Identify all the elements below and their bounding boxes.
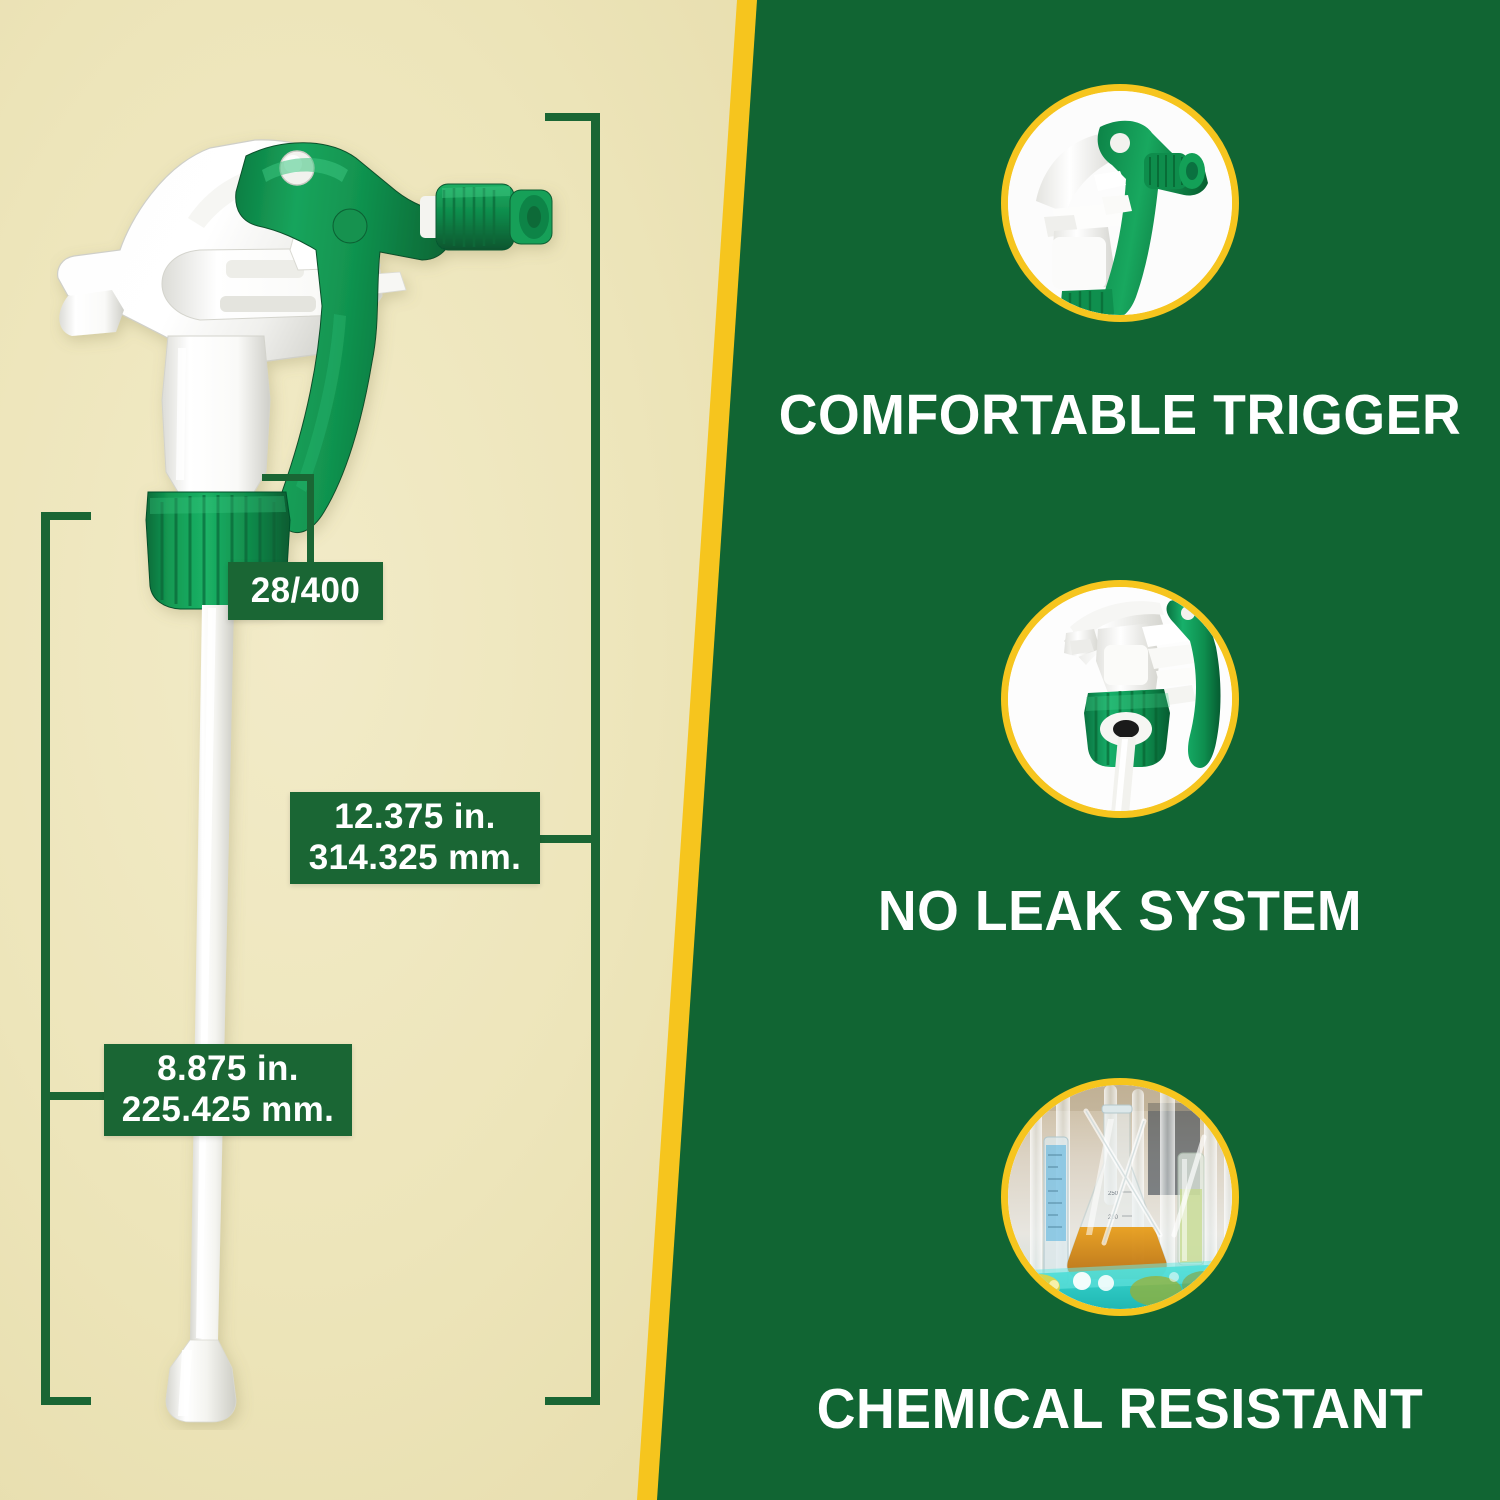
feature-chemical-resistant: 250 200 [740,1078,1500,1442]
feature-no-leak-system: NO LEAK SYSTEM [740,580,1500,944]
feature-comfortable-trigger-title: COMFORTABLE TRIGGER [763,382,1477,448]
trigger-closeup-photo [1008,91,1232,315]
lab-glassware-photo: 250 200 [1008,1085,1232,1309]
feature-chemical-resistant-image: 250 200 [1001,1078,1239,1316]
feature-no-leak-system-title: NO LEAK SYSTEM [763,878,1477,944]
feature-no-leak-system-image [1001,580,1239,818]
product-infographic: 28/400 12.375 in. 314.325 mm. 8.875 in. … [0,0,1500,1500]
feature-comfortable-trigger: COMFORTABLE TRIGGER [740,84,1500,448]
cap-collar-closeup-photo [1008,587,1232,811]
feature-comfortable-trigger-image [1001,84,1239,322]
feature-chemical-resistant-title: CHEMICAL RESISTANT [763,1376,1477,1442]
